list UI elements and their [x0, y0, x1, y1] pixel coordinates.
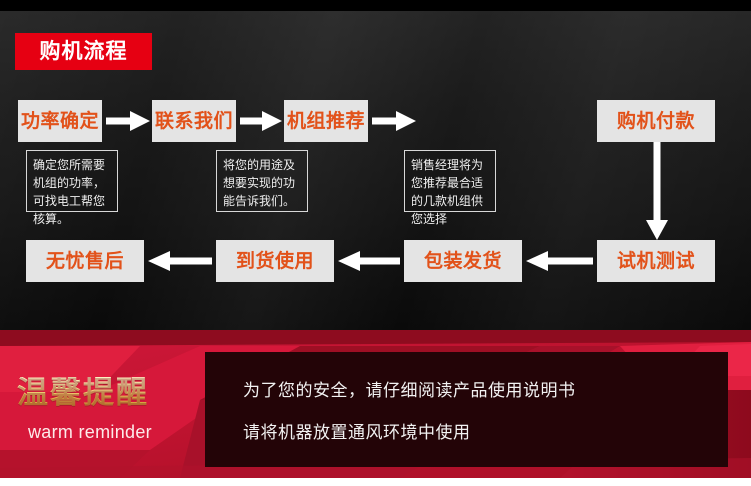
step-desc-recommend: 销售经理将为您推荐最合适的几款机组供您选择: [404, 150, 496, 212]
step-head-payment: 购机付款: [597, 100, 715, 142]
section-title-label: 购机流程: [40, 41, 128, 62]
step-desc-label: 销售经理将为您推荐最合适的几款机组供您选择: [411, 156, 489, 228]
notice-panel: 为了您的安全，请仔细阅读产品使用说明书 请将机器放置通风环境中使用: [205, 352, 728, 467]
step-desc-power: 确定您所需要机组的功率，可找电工帮您核算。: [26, 150, 118, 212]
step-desc-label: 将您的用途及想要实现的功能告诉我们。: [223, 156, 301, 210]
notice-line-1: 为了您的安全，请仔细阅读产品使用说明书: [243, 382, 576, 399]
step-title-label: 到货使用: [236, 252, 314, 271]
step-title-label: 机组推荐: [287, 112, 365, 131]
notice-line-2: 请将机器放置通风环境中使用: [243, 424, 471, 441]
purchase-flow-section: 购机流程 功率确定 联系我们 机组推荐 购机付款 确定您所需要机组的功率，可找电…: [0, 0, 751, 330]
step-head-aftersales: 无忧售后: [26, 240, 144, 282]
bottom-white-strip: [0, 478, 751, 486]
step-head-delivery-use: 到货使用: [216, 240, 334, 282]
reminder-title-en: warm reminder: [28, 423, 152, 441]
step-title-label: 联系我们: [155, 112, 233, 131]
step-desc-contact: 将您的用途及想要实现的功能告诉我们。: [216, 150, 308, 212]
arrow-left-2: [338, 250, 400, 272]
promo-graphic: 购机流程 功率确定 联系我们 机组推荐 购机付款 确定您所需要机组的功率，可找电…: [0, 0, 751, 486]
arrow-right-3: [372, 110, 416, 132]
arrow-down-1: [645, 142, 669, 240]
arrow-right-1: [106, 110, 150, 132]
step-head-contact: 联系我们: [152, 100, 236, 142]
top-black-strip: [0, 0, 751, 11]
arrow-left-1: [148, 250, 212, 272]
arrow-right-2: [240, 110, 282, 132]
reminder-title-cn: 温馨提醒: [17, 377, 149, 408]
step-title-label: 无忧售后: [46, 252, 124, 271]
arrow-left-3: [526, 250, 593, 272]
step-title-label: 功率确定: [21, 112, 99, 131]
step-head-trial-test: 试机测试: [597, 240, 715, 282]
step-desc-label: 确定您所需要机组的功率，可找电工帮您核算。: [33, 156, 111, 228]
step-title-label: 包装发货: [424, 252, 502, 271]
step-title-label: 购机付款: [617, 112, 695, 131]
step-head-packing-shipping: 包装发货: [404, 240, 522, 282]
step-title-label: 试机测试: [617, 252, 695, 271]
step-head-power: 功率确定: [18, 100, 102, 142]
step-head-recommend: 机组推荐: [284, 100, 368, 142]
section-title-badge: 购机流程: [15, 33, 152, 70]
